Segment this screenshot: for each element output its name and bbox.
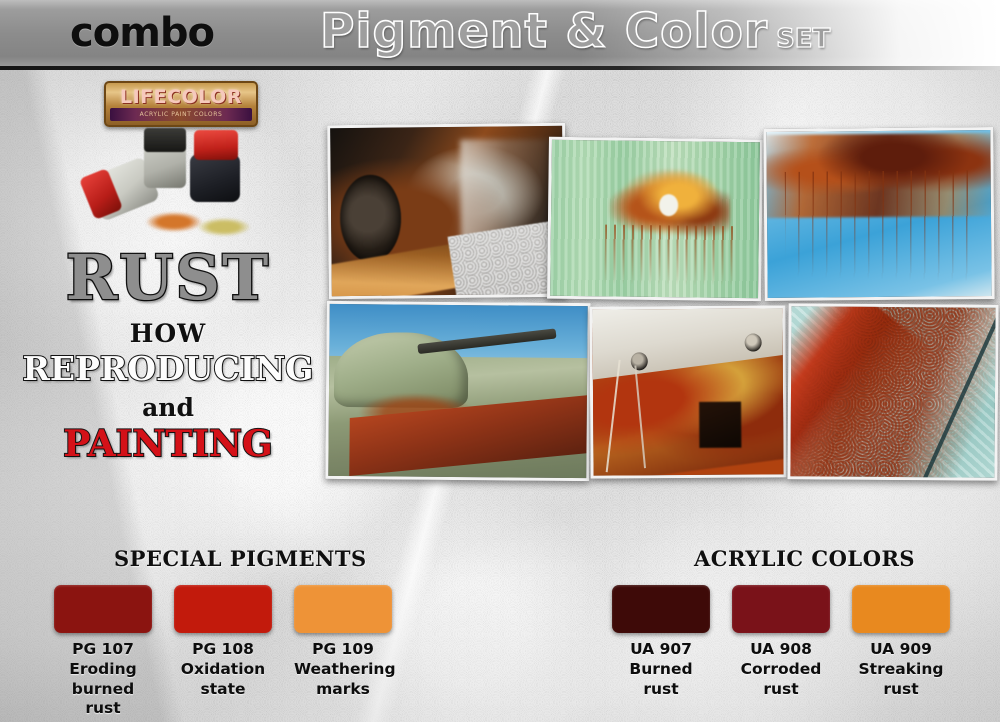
gallery-photo-ship-hull-heavy-rust bbox=[589, 305, 786, 478]
gallery-photo-military-vehicle-rusty-deck bbox=[325, 301, 591, 481]
swatch-chip-pg-107 bbox=[54, 585, 152, 633]
swatch-name-ua-907: Burned rust bbox=[612, 660, 710, 700]
hero-title-painting: PAINTING bbox=[18, 426, 318, 462]
swatch-pg-109: PG 109 Weathering marks bbox=[294, 585, 392, 719]
hero-title-how: HOW bbox=[18, 319, 318, 348]
swatch-chip-pg-109 bbox=[294, 585, 392, 633]
jar-dark-body bbox=[190, 154, 240, 202]
swatch-name-ua-908: Corroded rust bbox=[732, 660, 830, 700]
swatch-pg-108: PG 108 Oxidation state bbox=[174, 585, 272, 719]
pigment-powder-yellow bbox=[198, 218, 250, 236]
lifecolor-logo-tagline: ACRYLIC PAINT COLORS bbox=[110, 108, 252, 121]
swatch-chip-pg-108 bbox=[174, 585, 272, 633]
swatch-name-ua-909: Streaking rust bbox=[852, 660, 950, 700]
paint-jars-photo bbox=[86, 128, 276, 248]
hero-title-reproducing: REPRODUCING bbox=[18, 352, 318, 385]
jar-red-cap-b bbox=[194, 130, 238, 160]
swatch-code-pg-107: PG 107 bbox=[54, 640, 152, 660]
swatch-chip-ua-909 bbox=[852, 585, 950, 633]
swatch-chip-ua-907 bbox=[612, 585, 710, 633]
swatch-ua-908: UA 908 Corroded rust bbox=[732, 585, 830, 699]
lifecolor-logo-wordmark: LIFECOLOR bbox=[106, 86, 256, 108]
swatch-name-pg-107: Eroding burned rust bbox=[54, 660, 152, 719]
acrylic-colors-row: UA 907 Burned rust UA 908 Corroded rust … bbox=[612, 585, 950, 699]
page-title: Pigment & ColorSET bbox=[320, 4, 830, 59]
combo-label: combo bbox=[70, 10, 214, 56]
jar-black-cap-a bbox=[144, 128, 186, 152]
gallery-photo-corrugated-panel-rust-band bbox=[787, 303, 998, 480]
gallery-photo-green-panel-rust-hole bbox=[547, 137, 763, 302]
gallery-photo-blue-panel-rust-streaks bbox=[763, 127, 994, 301]
swatch-ua-909: UA 909 Streaking rust bbox=[852, 585, 950, 699]
hero-title-block: RUST HOW REPRODUCING and PAINTING bbox=[18, 248, 318, 462]
swatch-pg-107: PG 107 Eroding burned rust bbox=[54, 585, 152, 719]
header-divider-rule bbox=[0, 66, 1000, 70]
hero-title-and: and bbox=[18, 393, 318, 422]
swatch-chip-ua-908 bbox=[732, 585, 830, 633]
swatch-code-pg-108: PG 108 bbox=[174, 640, 272, 660]
special-pigments-row: PG 107 Eroding burned rust PG 108 Oxidat… bbox=[54, 585, 392, 719]
page-title-suffix: SET bbox=[776, 24, 830, 54]
pigment-powder-orange bbox=[146, 212, 202, 232]
swatch-code-ua-907: UA 907 bbox=[612, 640, 710, 660]
header-band: combo Pigment & ColorSET bbox=[0, 0, 1000, 66]
acrylic-colors-heading: ACRYLIC COLORS bbox=[694, 546, 915, 571]
lifecolor-logo: LIFECOLOR ACRYLIC PAINT COLORS bbox=[104, 81, 258, 127]
swatch-name-pg-109: Weathering marks bbox=[294, 660, 392, 700]
swatch-code-pg-109: PG 109 bbox=[294, 640, 392, 660]
swatch-code-ua-908: UA 908 bbox=[732, 640, 830, 660]
special-pigments-heading: SPECIAL PIGMENTS bbox=[114, 546, 367, 571]
gallery-photo-rusty-machinery-undercarriage bbox=[327, 123, 567, 299]
swatch-ua-907: UA 907 Burned rust bbox=[612, 585, 710, 699]
hero-title-rust: RUST bbox=[18, 248, 318, 309]
product-packaging-page: combo Pigment & ColorSET LIFECOLOR ACRYL… bbox=[0, 0, 1000, 722]
swatch-name-pg-108: Oxidation state bbox=[174, 660, 272, 700]
swatch-code-ua-909: UA 909 bbox=[852, 640, 950, 660]
page-title-main: Pigment & Color bbox=[320, 4, 768, 59]
